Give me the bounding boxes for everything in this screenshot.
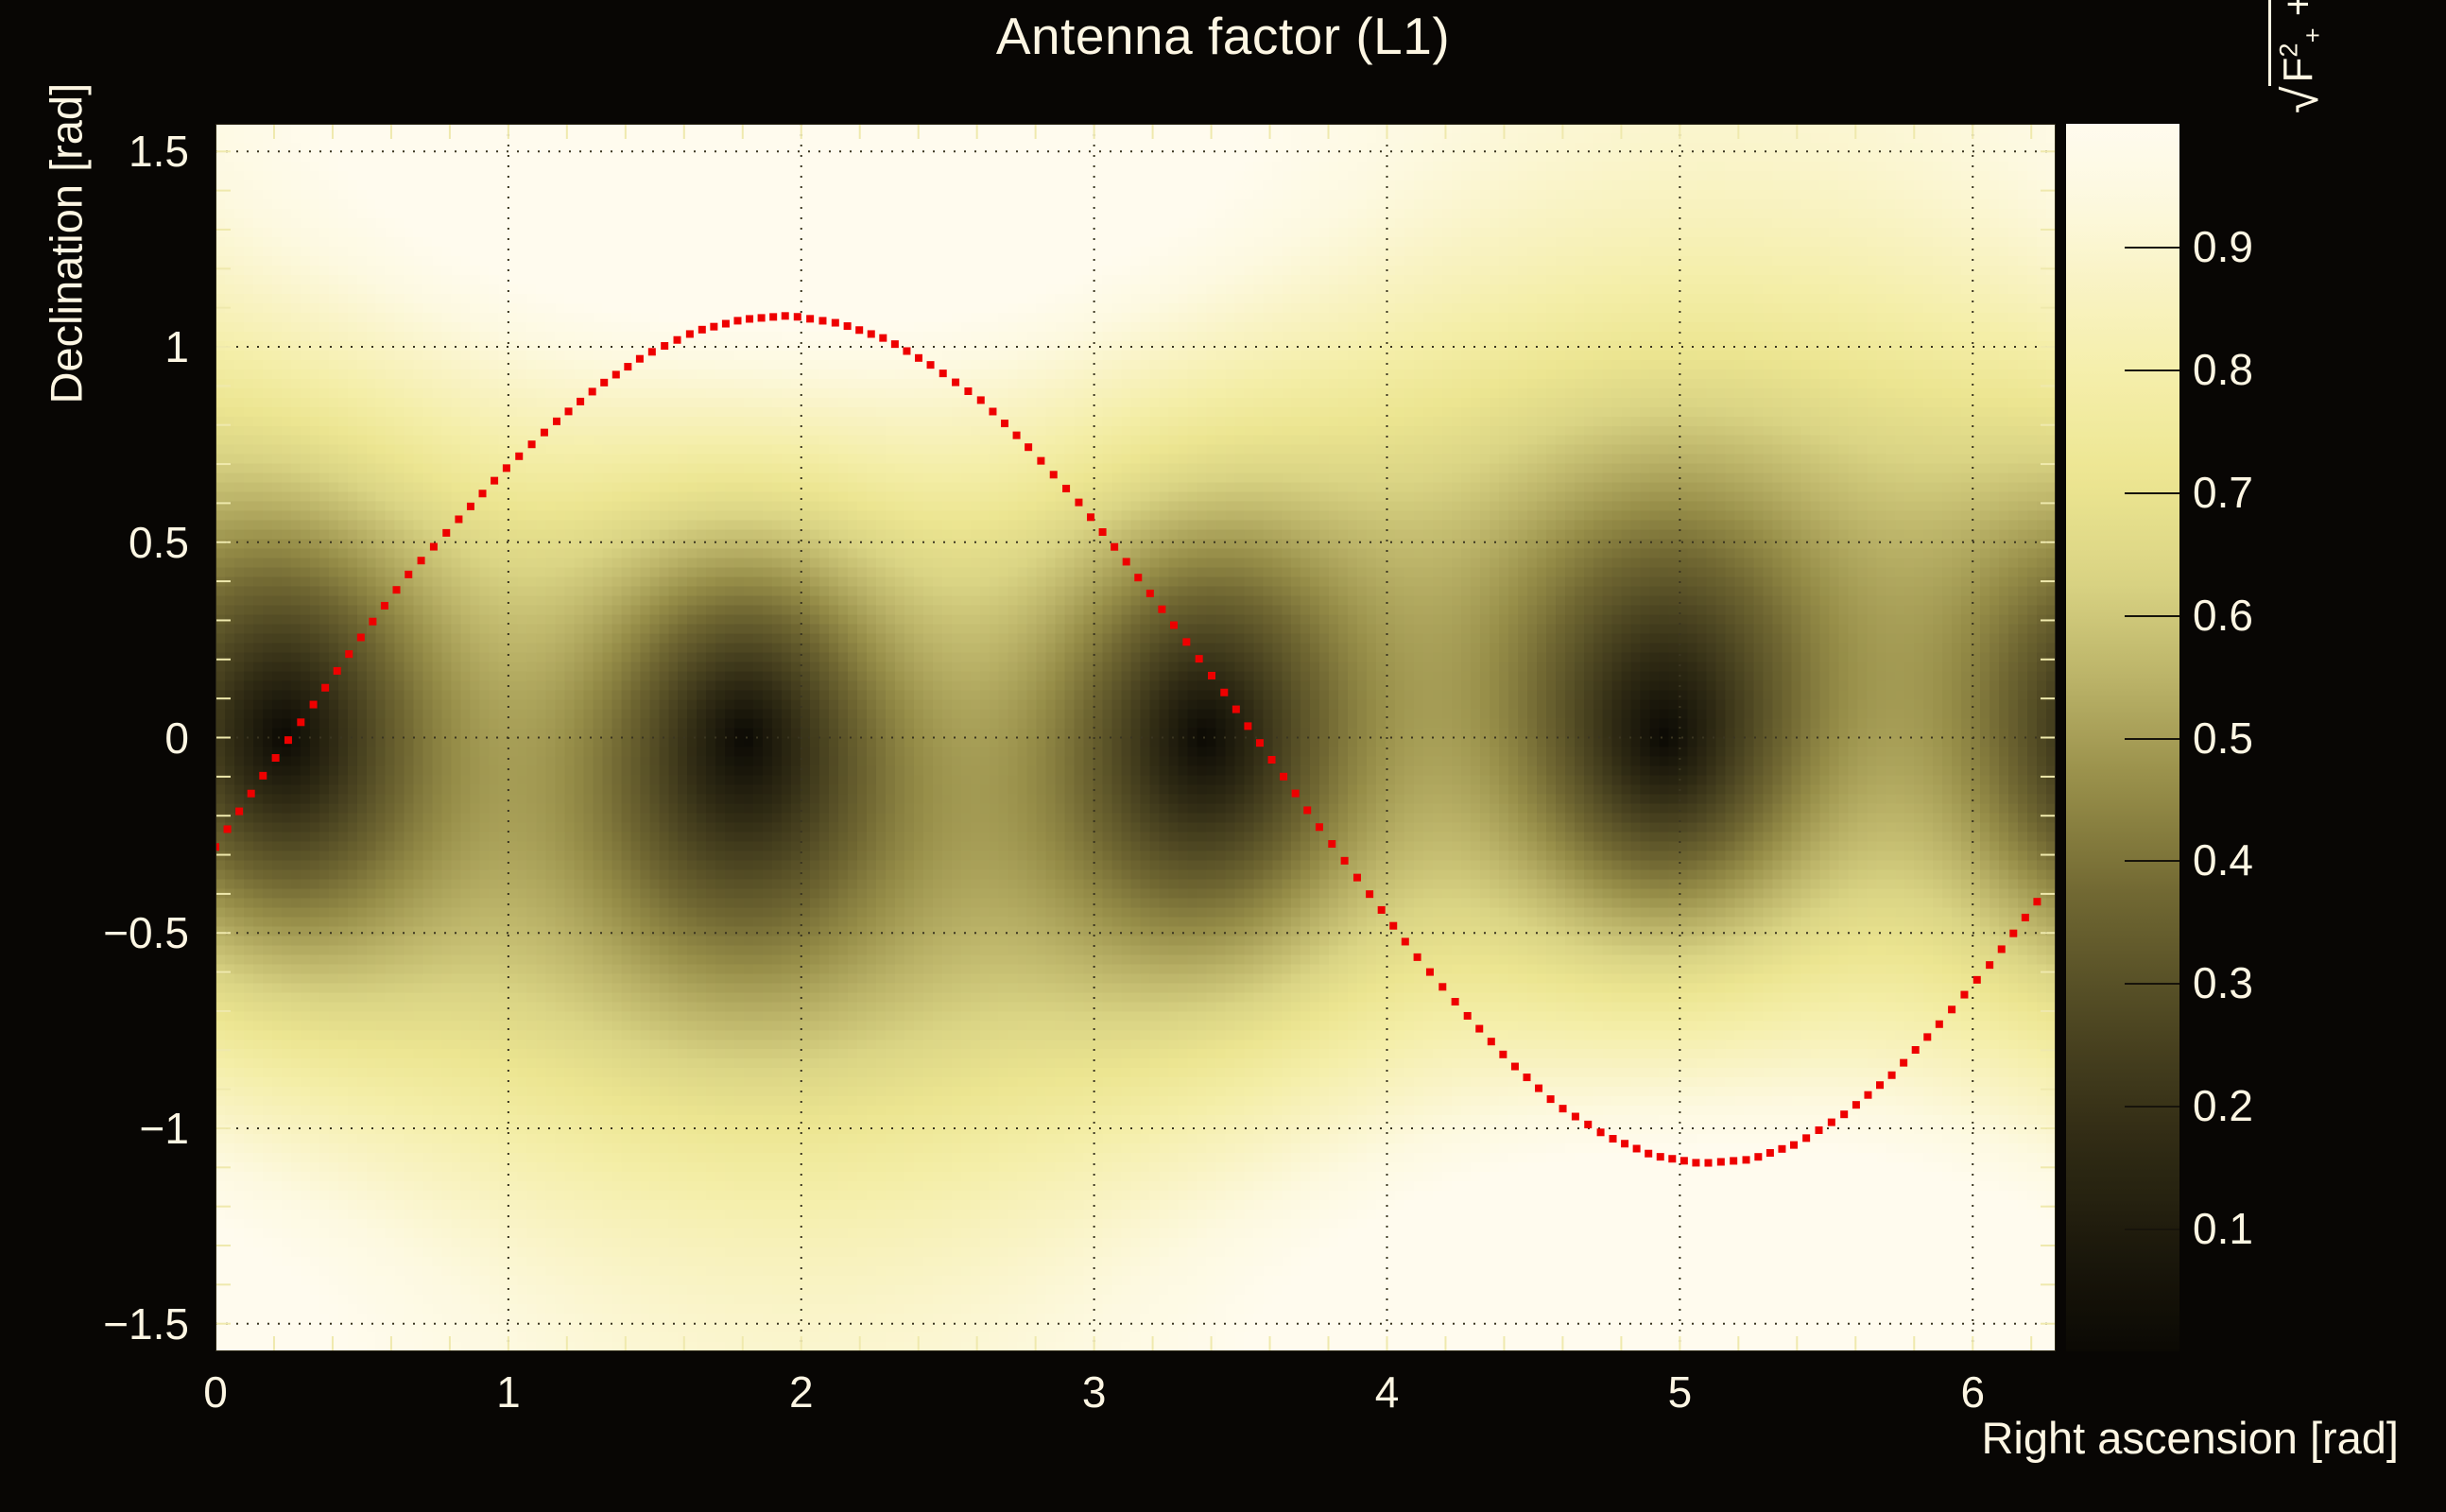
curve-point	[1621, 1140, 1628, 1147]
colorbar-tick-label: 0.9	[2193, 221, 2253, 272]
curve-point	[1328, 840, 1335, 848]
curve-point	[215, 843, 219, 850]
curve-point	[1414, 954, 1421, 961]
curve-point	[1912, 1046, 1920, 1054]
curve-point	[1025, 443, 1032, 451]
x-tick-label: 3	[1082, 1366, 1107, 1417]
curve-point	[1547, 1095, 1555, 1103]
colorbar-tick-label: 0.5	[2193, 713, 2253, 764]
curve-point	[1743, 1156, 1750, 1163]
colorbar-tick-label: 0.2	[2193, 1080, 2253, 1131]
curve-point	[1900, 1059, 1907, 1067]
y-tick-label: −0.5	[28, 907, 189, 958]
colorbar-title: √F2+ + F2×	[2268, 0, 2322, 113]
colorbar-tick-mark	[2125, 492, 2179, 494]
curve-point	[2033, 898, 2041, 905]
curve-point	[818, 317, 826, 324]
colorbar-tick-label: 0.8	[2193, 344, 2253, 395]
curve-point	[879, 335, 887, 342]
curve-point	[722, 320, 730, 328]
curve-point	[1220, 689, 1228, 696]
y-tick-label: −1.5	[28, 1298, 189, 1349]
curve-point	[636, 355, 644, 363]
curve-point	[1438, 983, 1446, 990]
sqrt-expression: √F2+ + F2×	[2268, 0, 2322, 113]
curve-point	[1730, 1157, 1737, 1164]
curve-point	[1876, 1081, 1884, 1089]
curve-point	[1754, 1153, 1762, 1160]
curve-point	[794, 313, 801, 320]
curve-point	[577, 398, 584, 405]
curve-point	[467, 503, 474, 510]
curve-point	[1815, 1126, 1822, 1134]
curve-point	[1182, 638, 1190, 645]
colorbar-tick-label: 0.1	[2193, 1203, 2253, 1254]
curve-point	[1075, 499, 1082, 507]
x-tick-label: 2	[789, 1366, 814, 1417]
curve-point	[1208, 672, 1215, 679]
chart-root: Antenna factor (L1) 0123456 1.510.50−0.5…	[0, 0, 2446, 1512]
y-tick-label: 0.5	[28, 517, 189, 568]
curve-point	[1986, 961, 1993, 969]
curve-point	[832, 319, 839, 327]
curve-point	[259, 772, 267, 780]
curve-point	[686, 330, 694, 337]
curve-point	[1292, 790, 1300, 798]
overlay-curve-points	[215, 312, 2041, 1166]
x-axis-title: Right ascension [rad]	[1981, 1412, 2399, 1464]
curve-point	[369, 618, 376, 626]
colorbar-tick-mark	[2125, 615, 2179, 617]
curve-point	[769, 313, 777, 320]
curve-point	[1645, 1150, 1652, 1158]
curve-point	[1523, 1074, 1530, 1081]
curve-point	[565, 407, 573, 415]
sqrt-body: F2+ + F2×	[2268, 0, 2322, 86]
curve-point	[1037, 457, 1044, 465]
radical-icon: √	[2282, 86, 2322, 113]
curve-point	[418, 557, 425, 564]
curve-point	[1123, 558, 1130, 565]
x-tick-label: 6	[1960, 1366, 1985, 1417]
colorbar-tick-mark	[2125, 983, 2179, 985]
curve-point	[1268, 756, 1276, 764]
curve-point	[698, 326, 706, 334]
curve-point	[1864, 1091, 1871, 1099]
y-axis-title: Declination [rad]	[41, 8, 93, 404]
curve-point	[806, 315, 814, 322]
curve-point	[2022, 914, 2029, 921]
x-tick-label: 4	[1375, 1366, 1400, 1417]
curve-point	[589, 387, 596, 395]
curve-point	[1111, 543, 1118, 551]
curve-point	[1597, 1128, 1605, 1136]
curve-point	[733, 317, 741, 324]
curve-point	[927, 361, 935, 369]
curve-point	[600, 379, 608, 387]
curve-point	[2009, 930, 2017, 937]
curve-point	[903, 347, 910, 354]
curve-point	[977, 396, 985, 404]
curve-point	[1001, 420, 1008, 427]
curve-point	[612, 370, 620, 378]
curve-point	[430, 543, 438, 551]
curve-point	[868, 330, 875, 337]
curve-point	[1402, 937, 1409, 945]
curve-point	[503, 464, 510, 472]
curve-point	[491, 477, 498, 485]
curve-point	[1610, 1135, 1617, 1143]
colorbar-tick-mark	[2125, 369, 2179, 371]
colorbar-tick-label: 0.7	[2193, 467, 2253, 518]
y-tick-label: −1	[28, 1103, 189, 1154]
curve-point	[393, 586, 401, 593]
curve-point	[1936, 1021, 1943, 1028]
curve-point	[345, 650, 353, 658]
curve-point	[1280, 773, 1287, 781]
curve-point	[1692, 1159, 1699, 1166]
curve-point	[855, 326, 863, 334]
curve-point	[1134, 574, 1142, 581]
curve-point	[624, 363, 631, 370]
curve-point	[1366, 890, 1373, 898]
curve-point	[915, 354, 922, 362]
curve-point	[1316, 823, 1323, 831]
curve-point	[989, 407, 996, 415]
curve-point	[1998, 945, 2006, 953]
chart-title: Antenna factor (L1)	[0, 6, 2446, 66]
curve-point	[1062, 485, 1070, 492]
curve-point	[1584, 1121, 1592, 1128]
curve-point	[1559, 1105, 1567, 1112]
curve-point	[224, 825, 232, 833]
curve-point	[1680, 1157, 1688, 1164]
curve-point	[758, 314, 766, 321]
curve-point	[1389, 922, 1397, 930]
curve-point	[1256, 739, 1264, 747]
y-tick-label: 0	[28, 713, 189, 764]
curve-point	[1973, 976, 1981, 984]
curve-point	[1499, 1051, 1507, 1058]
curve-point	[334, 667, 341, 675]
curve-point	[297, 718, 304, 726]
curve-point	[248, 790, 255, 798]
curve-point	[1378, 906, 1386, 914]
x-tick-label: 5	[1668, 1366, 1693, 1417]
overlay-layer	[215, 124, 2056, 1351]
curve-point	[528, 440, 536, 448]
curve-point	[553, 418, 560, 425]
curve-point	[479, 490, 487, 497]
curve-point	[952, 379, 959, 387]
colorbar-tick-label: 0.4	[2193, 834, 2253, 885]
curve-point	[1852, 1101, 1860, 1108]
curve-point	[1828, 1119, 1835, 1126]
curve-point	[1353, 874, 1361, 882]
colorbar-tick-mark	[2125, 1106, 2179, 1108]
curve-point	[1452, 998, 1459, 1005]
curve-point	[710, 323, 717, 331]
curve-point	[1960, 991, 1968, 999]
colorbar-tick-mark	[2125, 738, 2179, 740]
curve-point	[541, 429, 548, 437]
curve-point	[1923, 1033, 1931, 1040]
curve-point	[1888, 1072, 1896, 1079]
curve-point	[1511, 1063, 1519, 1071]
curve-point	[272, 754, 280, 762]
curve-point	[1464, 1012, 1472, 1020]
curve-point	[1146, 590, 1154, 597]
curve-point	[1572, 1113, 1579, 1121]
curve-point	[1475, 1025, 1483, 1033]
colorbar-tick-label: 0.3	[2193, 957, 2253, 1008]
curve-point	[1717, 1158, 1725, 1165]
curve-point	[1766, 1149, 1774, 1157]
curve-point	[1535, 1085, 1542, 1092]
curve-point	[1488, 1038, 1495, 1045]
curve-point	[661, 342, 668, 350]
curve-point	[442, 529, 450, 537]
curve-point	[1050, 471, 1058, 478]
colorbar-tick-label: 0.6	[2193, 590, 2253, 641]
curve-point	[1196, 655, 1203, 662]
curve-point	[1341, 857, 1349, 865]
curve-point	[1948, 1005, 1955, 1013]
curve-point	[1158, 606, 1165, 613]
curve-point	[674, 336, 681, 344]
curve-point	[405, 571, 412, 578]
curve-point	[1013, 432, 1021, 439]
curve-point	[357, 633, 365, 641]
heatmap-plot-area	[215, 124, 2056, 1351]
curve-point	[321, 684, 329, 692]
x-tick-label: 0	[203, 1366, 228, 1417]
curve-point	[891, 340, 899, 348]
curve-point	[1668, 1155, 1676, 1162]
curve-point	[1778, 1145, 1785, 1153]
curve-point	[1426, 969, 1434, 976]
curve-point	[964, 387, 972, 395]
curve-point	[235, 808, 243, 816]
curve-point	[746, 315, 753, 322]
curve-point	[310, 701, 318, 709]
curve-point	[782, 312, 789, 319]
curve-point	[1657, 1153, 1664, 1160]
curve-point	[284, 736, 292, 744]
colorbar-tick-mark	[2125, 860, 2179, 862]
curve-point	[1704, 1160, 1712, 1167]
curve-point	[455, 516, 462, 524]
curve-point	[1232, 706, 1240, 713]
colorbar-tick-mark	[2125, 1228, 2179, 1230]
curve-point	[939, 369, 947, 377]
curve-point	[1790, 1142, 1798, 1149]
curve-point	[1087, 513, 1094, 521]
curve-point	[648, 348, 656, 355]
curve-point	[1244, 722, 1251, 730]
curve-point	[1303, 806, 1311, 814]
curve-point	[1099, 528, 1107, 536]
x-tick-label: 1	[496, 1366, 521, 1417]
colorbar-tick-mark	[2125, 247, 2179, 249]
curve-point	[1840, 1110, 1848, 1118]
curve-point	[515, 453, 523, 460]
curve-point	[381, 602, 388, 610]
curve-point	[1802, 1134, 1810, 1142]
curve-point	[1170, 622, 1178, 629]
curve-point	[844, 322, 852, 330]
curve-point	[1633, 1144, 1641, 1152]
